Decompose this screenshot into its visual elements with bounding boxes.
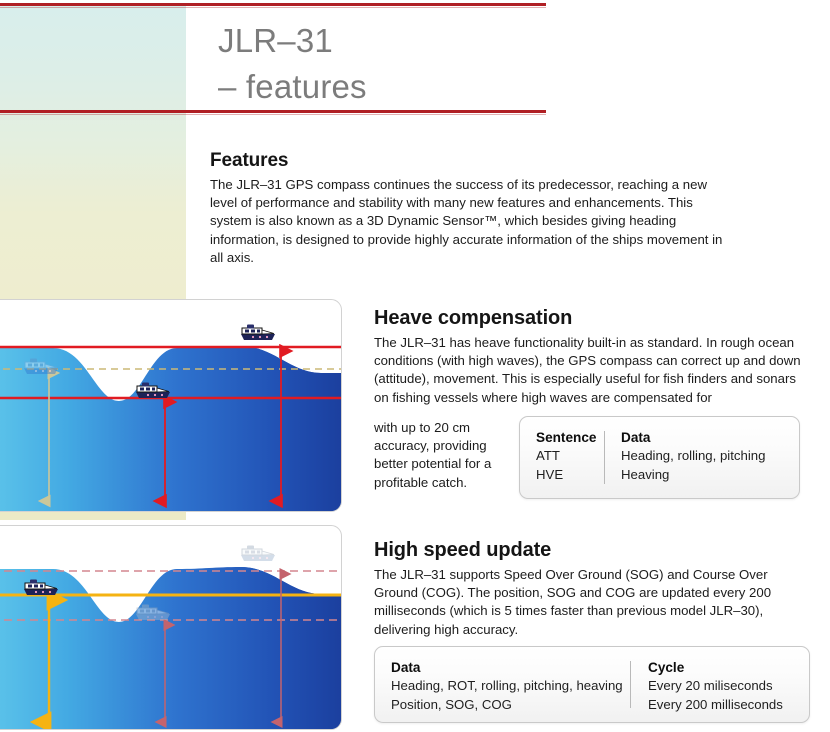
high-speed-table-cell-data-0: Heading, ROT, rolling, pitching, heaving bbox=[391, 677, 630, 696]
features-heading: Features bbox=[210, 148, 735, 173]
high-speed-table-cell-data-1: Position, SOG, COG bbox=[391, 696, 630, 715]
heave-on-canvas bbox=[0, 526, 341, 729]
high-speed-update-paragraph: The JLR–31 supports Speed Over Ground (S… bbox=[374, 566, 794, 639]
page-title-line-2: – features bbox=[218, 64, 548, 110]
high-speed-table-cell-cycle-0: Every 20 miliseconds bbox=[648, 677, 783, 696]
heave-table-header-data: Data bbox=[621, 428, 765, 447]
title-rule-bottom-hairline bbox=[0, 114, 546, 115]
title-rule-top bbox=[0, 3, 546, 6]
heave-off-illustration: Heave OFF bbox=[0, 299, 342, 512]
decorative-gradient-panel-top bbox=[0, 6, 186, 295]
heave-compensation-paragraph: The JLR–31 has heave functionality built… bbox=[374, 334, 804, 407]
page-title-line-1: JLR–31 bbox=[218, 18, 548, 64]
high-speed-update-section: High speed update The JLR–31 supports Sp… bbox=[374, 537, 794, 639]
heave-table-cell-sentence-0: ATT bbox=[536, 447, 604, 466]
heave-table-column-sentence: Sentence ATT HVE bbox=[520, 417, 604, 498]
heave-table-cell-sentence-1: HVE bbox=[536, 466, 604, 485]
heave-compensation-paragraph-continued: with up to 20 cm accuracy, providing bet… bbox=[374, 419, 504, 492]
heave-off-diagram bbox=[0, 300, 342, 512]
high-speed-table-header-cycle: Cycle bbox=[648, 658, 783, 677]
heave-table-header-sentence: Sentence bbox=[536, 428, 604, 447]
page-title: JLR–31 – features bbox=[218, 18, 548, 110]
heave-table-column-data: Data Heading, rolling, pitching Heaving bbox=[605, 417, 765, 498]
high-speed-data-cycle-table: Data Heading, ROT, rolling, pitching, he… bbox=[374, 646, 810, 723]
ship-icon-ghost-crest-on bbox=[241, 546, 275, 562]
high-speed-table-column-data: Data Heading, ROT, rolling, pitching, he… bbox=[375, 647, 630, 722]
features-section: Features The JLR–31 GPS compass continue… bbox=[210, 148, 735, 267]
title-rule-bottom bbox=[0, 110, 546, 113]
ship-icon-crest-off bbox=[241, 325, 275, 341]
title-rule-top-hairline bbox=[0, 7, 546, 8]
heave-sentence-data-table: Sentence ATT HVE Data Heading, rolling, … bbox=[519, 416, 800, 499]
heave-compensation-section: Heave compensation The JLR–31 has heave … bbox=[374, 305, 804, 407]
heave-on-diagram bbox=[0, 526, 342, 730]
page-root: JLR–31 – features Features The JLR–31 GP… bbox=[0, 0, 830, 732]
high-speed-table-cell-cycle-1: Every 200 milliseconds bbox=[648, 696, 783, 715]
high-speed-table-header-data: Data bbox=[391, 658, 630, 677]
high-speed-table-column-cycle: Cycle Every 20 miliseconds Every 200 mil… bbox=[631, 647, 783, 722]
heave-off-canvas bbox=[0, 300, 341, 511]
heave-compensation-heading: Heave compensation bbox=[374, 305, 804, 332]
heave-table-cell-data-1: Heaving bbox=[621, 466, 765, 485]
features-paragraph: The JLR–31 GPS compass continues the suc… bbox=[210, 176, 735, 267]
heave-table-cell-data-0: Heading, rolling, pitching bbox=[621, 447, 765, 466]
high-speed-update-heading: High speed update bbox=[374, 537, 794, 564]
heave-on-illustration: Heave ON bbox=[0, 525, 342, 730]
